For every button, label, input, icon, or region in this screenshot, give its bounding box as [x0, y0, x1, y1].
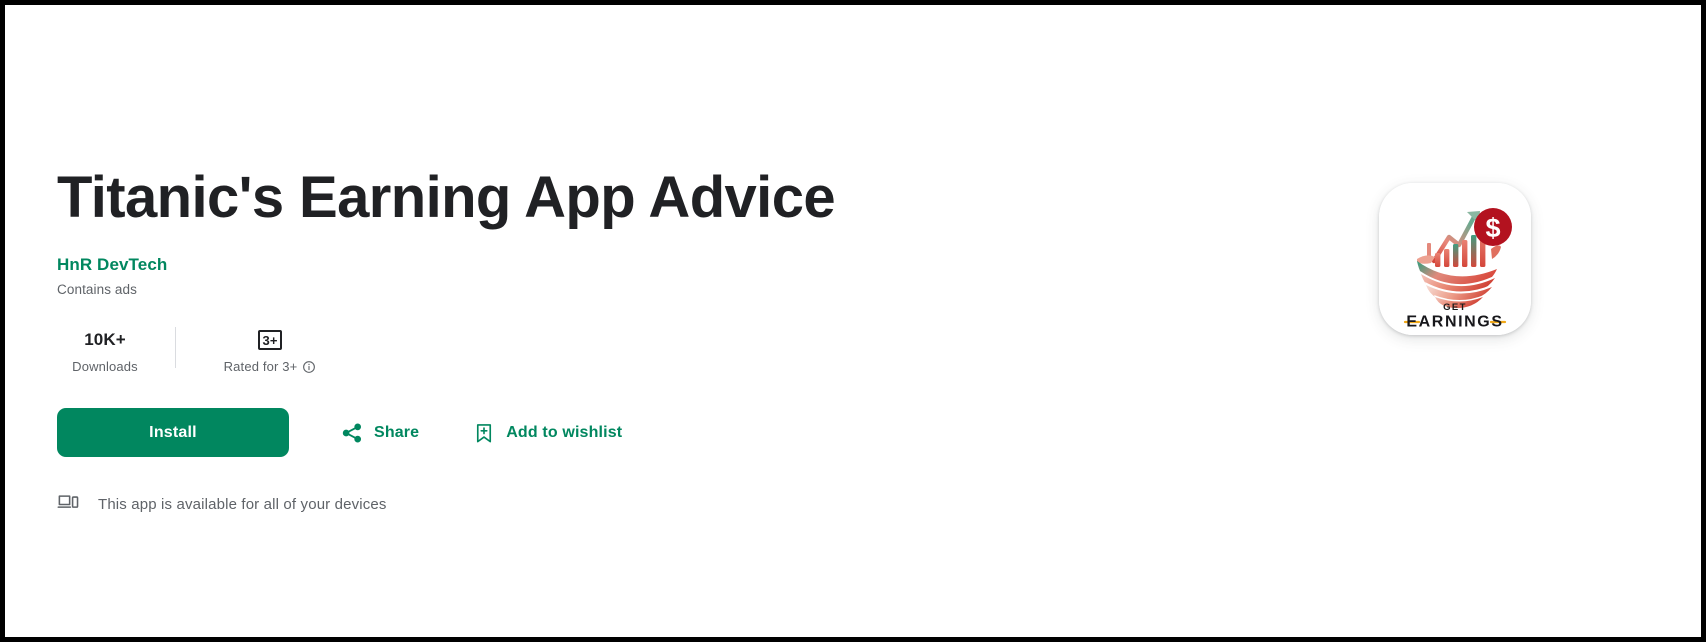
share-label: Share [374, 424, 419, 442]
info-icon[interactable] [302, 360, 316, 374]
device-availability-row: This app is available for all of your de… [57, 491, 1207, 517]
developer-row: HnR DevTech [57, 231, 1207, 275]
downloads-value: 10K+ [84, 325, 126, 355]
app-stats: 10K+ Downloads 3+ Rated for 3+ [57, 325, 357, 374]
contains-ads-label: Contains ads [57, 282, 1207, 297]
stat-downloads: 10K+ Downloads [57, 325, 153, 374]
wishlist-label: Add to wishlist [506, 424, 622, 442]
developer-link[interactable]: HnR DevTech [57, 255, 167, 275]
content-rating-value: 3+ [258, 325, 281, 355]
app-icon: $ GET EARNINGS [1379, 183, 1531, 335]
share-icon [341, 422, 363, 444]
content-rating-label-text: Rated for 3+ [224, 359, 298, 374]
action-buttons-row: Install Share [57, 408, 1207, 457]
icon-word-get: GET [1443, 302, 1467, 313]
bookmark-add-icon [473, 422, 495, 444]
app-details-column: Titanic's Earning App Advice HnR DevTech… [57, 165, 1207, 517]
play-store-app-page: Titanic's Earning App Advice HnR DevTech… [5, 5, 1701, 637]
content-rating-badge: 3+ [258, 330, 281, 350]
stat-content-rating: 3+ Rated for 3+ [200, 325, 340, 374]
icon-word-earnings: EARNINGS [1406, 314, 1503, 331]
downloads-label: Downloads [72, 359, 138, 374]
devices-icon [57, 491, 79, 517]
dollar-symbol: $ [1485, 213, 1500, 243]
install-button[interactable]: Install [57, 408, 289, 457]
downloads-label-text: Downloads [72, 359, 138, 374]
content-rating-label: Rated for 3+ [224, 359, 317, 374]
page-title: Titanic's Earning App Advice [57, 165, 1207, 231]
stats-divider [175, 327, 176, 368]
device-availability-text: This app is available for all of your de… [98, 496, 387, 513]
app-detail-screen: Titanic's Earning App Advice HnR DevTech… [0, 0, 1706, 642]
app-icon-artwork: $ GET EARNINGS [1379, 183, 1531, 335]
share-button[interactable]: Share [337, 416, 423, 450]
add-to-wishlist-button[interactable]: Add to wishlist [469, 416, 626, 450]
